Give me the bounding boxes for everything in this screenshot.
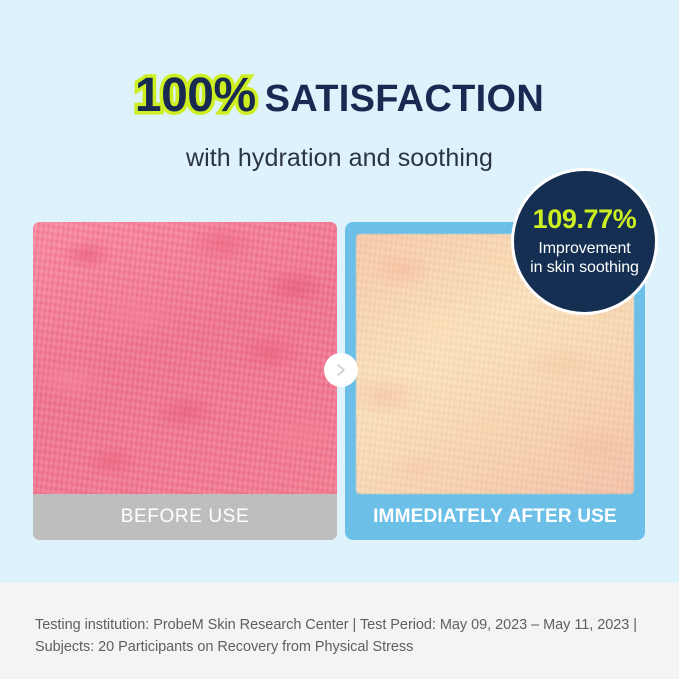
satisfaction-infographic: 100%SATISFACTION with hydration and soot… — [0, 0, 679, 679]
improvement-badge: 109.77% Improvement in skin soothing — [511, 168, 658, 315]
before-panel: BEFORE USE — [33, 222, 337, 540]
footer-band: Testing institution: ProbeM Skin Researc… — [0, 583, 679, 679]
before-skin-image — [33, 222, 337, 494]
after-caption: IMMEDIATELY AFTER USE — [345, 494, 645, 540]
before-caption: BEFORE USE — [33, 494, 337, 540]
badge-value: 109.77% — [533, 206, 637, 233]
chevron-right-icon — [324, 353, 358, 387]
comparison-panels: BEFORE USE IMMEDIATELY AFTER USE — [0, 0, 679, 679]
footer-disclaimer: Testing institution: ProbeM Skin Researc… — [35, 615, 647, 659]
badge-label-line1: Improvement — [538, 240, 630, 259]
badge-label-line2: in skin soothing — [530, 259, 639, 278]
